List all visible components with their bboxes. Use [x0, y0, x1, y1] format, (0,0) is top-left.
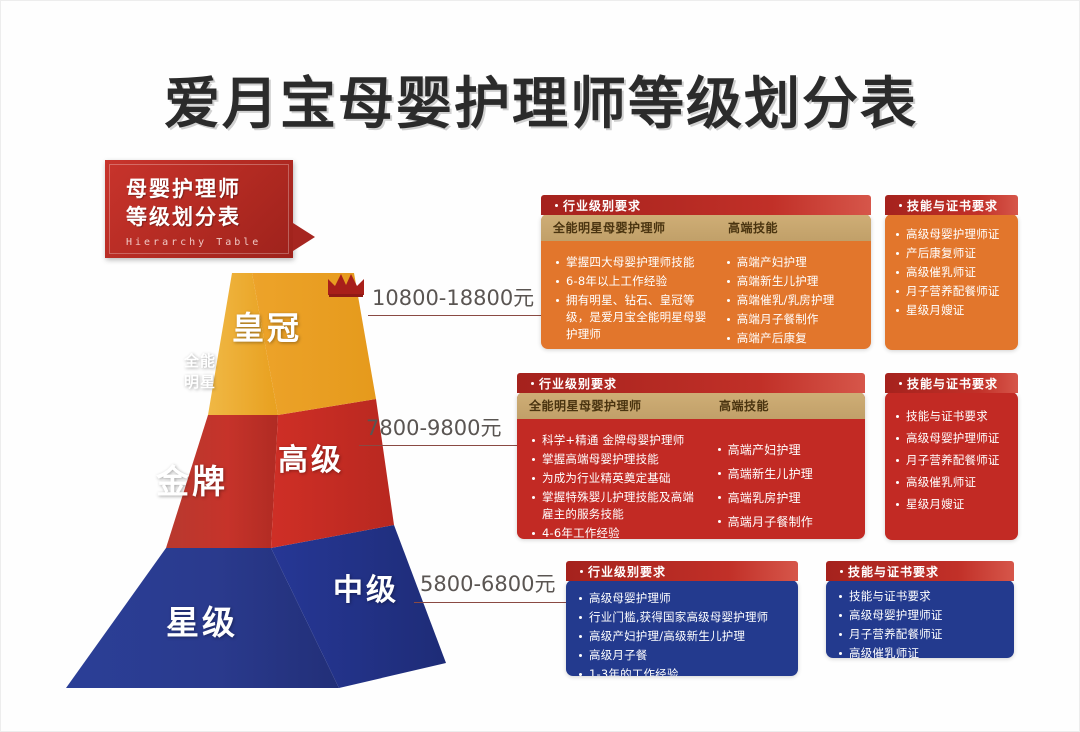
list-item: 掌握特殊婴儿护理技能及高端雇主的服务技能 [529, 489, 699, 523]
list-item: 高端产妇护理 [724, 254, 859, 271]
gold-col2-list: 高端产妇护理 高端新生儿护理 高端乳房护理 高端月子餐制作 [715, 441, 853, 531]
gold-certificates-caption: 技能与证书要求 [885, 373, 1018, 393]
bullet-dot-icon [580, 570, 583, 573]
list-item: 高端月子餐制作 [724, 311, 859, 328]
gold-certificates-body: 技能与证书要求 高级母婴护理师证 月子营养配餐师证 高级催乳师证 星级月嫂证 [885, 392, 1018, 540]
crown-requirements-caption: 行业级别要求 [541, 195, 871, 215]
gold-requirements-card: 行业级别要求 全能明星母婴护理师 高端技能 科学+精通 金牌母婴护理师 掌握高端… [517, 373, 865, 539]
list-item: 技能与证书要求 [836, 588, 1006, 605]
list-item: 高端月子餐制作 [715, 513, 853, 531]
list-item: 拥有明星、钻石、皇冠等级，是爱月宝全能明星母婴护理师 [553, 292, 708, 343]
connector-line-star [414, 602, 566, 603]
gold-certificates-list: 技能与证书要求 高级母婴护理师证 月子营养配餐师证 高级催乳师证 星级月嫂证 [893, 408, 1010, 513]
list-item: 高级月子餐 [576, 647, 790, 664]
price-crown-tier: 10800-18800元 [372, 282, 534, 312]
star-certificates-list: 技能与证书要求 高级母婴护理师证 月子营养配餐师证 高级催乳师证 [836, 588, 1006, 658]
crown-col2-header: 高端技能 [716, 214, 871, 241]
list-item: 1-3年的工作经验 [576, 666, 790, 676]
crown-certificates-caption-text: 技能与证书要求 [907, 197, 998, 214]
gold-certificates-card: 技能与证书要求 技能与证书要求 高级母婴护理师证 月子营养配餐师证 高级催乳师证… [885, 373, 1018, 540]
list-item: 高级母婴护理师证 [893, 226, 1010, 243]
bullet-dot-icon [899, 382, 902, 385]
star-requirements-caption-text: 行业级别要求 [588, 563, 666, 580]
list-item: 高级母婴护理师证 [836, 607, 1006, 624]
gold-columns: 科学+精通 金牌母婴护理师 掌握高端母婴护理技能 为成为行业精英奠定基础 掌握特… [517, 419, 865, 539]
list-item: 行业门槛,获得国家高级母婴护理师 [576, 609, 790, 626]
crown-col1-list: 掌握四大母婴护理师技能 6-8年以上工作经验 拥有明星、钻石、皇冠等级，是爱月宝… [553, 254, 708, 343]
list-item: 技能与证书要求 [893, 408, 1010, 425]
price-star-tier: 5800-6800元 [420, 568, 555, 598]
crown-col1-header: 全能明星母婴护理师 [541, 214, 716, 241]
list-item: 6-8年以上工作经验 [553, 273, 708, 290]
star-certificates-caption-text: 技能与证书要求 [848, 563, 939, 580]
star-requirements-list: 高级母婴护理师 行业门槛,获得国家高级母婴护理师 高级产妇护理/高级新生儿护理 … [576, 590, 790, 676]
star-certificates-body: 技能与证书要求 高级母婴护理师证 月子营养配餐师证 高级催乳师证 [826, 580, 1014, 658]
gold-col2-header: 高端技能 [707, 392, 865, 419]
gold-requirements-body: 全能明星母婴护理师 高端技能 科学+精通 金牌母婴护理师 掌握高端母婴护理技能 … [517, 392, 865, 539]
star-certificates-card: 技能与证书要求 技能与证书要求 高级母婴护理师证 月子营养配餐师证 高级催乳师证 [826, 561, 1014, 658]
crown-subheader-row: 全能明星母婴护理师 高端技能 [541, 214, 871, 241]
star-requirements-card: 行业级别要求 高级母婴护理师 行业门槛,获得国家高级母婴护理师 高级产妇护理/高… [566, 561, 798, 676]
infographic-canvas: 爱月宝母婴护理师等级划分表 母婴护理师 等级划分表 Hierarchy Tabl… [0, 0, 1080, 732]
connector-line-crown [368, 315, 548, 316]
connector-line-gold [359, 445, 519, 446]
gold-col1-header: 全能明星母婴护理师 [517, 392, 707, 419]
price-gold-tier: 7800-9800元 [366, 412, 501, 442]
list-item: 高级母婴护理师证 [893, 430, 1010, 447]
list-item: 4-6年工作经验 [529, 525, 699, 539]
list-item: 产后康复师证 [893, 245, 1010, 262]
list-item: 高级催乳师证 [836, 645, 1006, 658]
star-requirements-body: 高级母婴护理师 行业门槛,获得国家高级母婴护理师 高级产妇护理/高级新生儿护理 … [566, 580, 798, 676]
list-item: 月子营养配餐师证 [893, 452, 1010, 469]
crown-icon [326, 271, 366, 297]
crown-certificates-caption: 技能与证书要求 [885, 195, 1018, 215]
ribbon-inner-border: 母婴护理师 等级划分表 Hierarchy Table [109, 164, 289, 254]
level-pyramid: 皇冠 全能 明星 金牌 高级 星级 中级 [56, 263, 526, 693]
crown-column-1: 掌握四大母婴护理师技能 6-8年以上工作经验 拥有明星、钻石、皇冠等级，是爱月宝… [545, 247, 716, 341]
pyramid-shapes [56, 263, 526, 693]
crown-requirements-card: 行业级别要求 全能明星母婴护理师 高端技能 掌握四大母婴护理师技能 6-8年以上… [541, 195, 871, 349]
crown-column-2: 高端产妇护理 高端新生儿护理 高端催乳/乳房护理 高端月子餐制作 高端产后康复 [716, 247, 867, 341]
crown-certificates-body: 高级母婴护理师证 产后康复师证 高级催乳师证 月子营养配餐师证 星级月嫂证 [885, 214, 1018, 350]
gold-col1-list: 科学+精通 金牌母婴护理师 掌握高端母婴护理技能 为成为行业精英奠定基础 掌握特… [529, 432, 699, 539]
ribbon-english-subtitle: Hierarchy Table [126, 237, 288, 248]
page-title: 爱月宝母婴护理师等级划分表 [1, 59, 1080, 140]
list-item: 星级月嫂证 [893, 496, 1010, 513]
crown-requirements-caption-text: 行业级别要求 [563, 197, 641, 214]
list-item: 高端新生儿护理 [715, 465, 853, 483]
list-item: 掌握四大母婴护理师技能 [553, 254, 708, 271]
list-item: 高级催乳师证 [893, 264, 1010, 281]
gold-certificates-caption-text: 技能与证书要求 [907, 375, 998, 392]
bullet-dot-icon [840, 570, 843, 573]
list-item: 高端新生儿护理 [724, 273, 859, 290]
list-item: 高端乳房护理 [715, 489, 853, 507]
crown-certificates-list: 高级母婴护理师证 产后康复师证 高级催乳师证 月子营养配餐师证 星级月嫂证 [893, 226, 1010, 319]
bullet-dot-icon [531, 382, 534, 385]
list-item: 月子营养配餐师证 [836, 626, 1006, 643]
crown-col2-list: 高端产妇护理 高端新生儿护理 高端催乳/乳房护理 高端月子餐制作 高端产后康复 [724, 254, 859, 347]
list-item: 高端产妇护理 [715, 441, 853, 459]
list-item: 高端产后康复 [724, 330, 859, 347]
list-item: 月子营养配餐师证 [893, 283, 1010, 300]
bullet-dot-icon [555, 204, 558, 207]
ribbon-line-1: 母婴护理师 [126, 175, 288, 203]
gold-column-2: 高端产妇护理 高端新生儿护理 高端乳房护理 高端月子餐制作 [707, 425, 861, 531]
star-certificates-caption: 技能与证书要求 [826, 561, 1014, 581]
list-item: 为成为行业精英奠定基础 [529, 470, 699, 487]
list-item: 高级催乳师证 [893, 474, 1010, 491]
hierarchy-ribbon-banner: 母婴护理师 等级划分表 Hierarchy Table [105, 160, 293, 258]
crown-requirements-body: 全能明星母婴护理师 高端技能 掌握四大母婴护理师技能 6-8年以上工作经验 拥有… [541, 214, 871, 349]
list-item: 高级母婴护理师 [576, 590, 790, 607]
pyramid-face-gold-left [166, 415, 278, 548]
gold-column-1: 科学+精通 金牌母婴护理师 掌握高端母婴护理技能 为成为行业精英奠定基础 掌握特… [521, 425, 707, 531]
gold-requirements-caption: 行业级别要求 [517, 373, 865, 393]
crown-certificates-card: 技能与证书要求 高级母婴护理师证 产后康复师证 高级催乳师证 月子营养配餐师证 … [885, 195, 1018, 350]
bullet-dot-icon [899, 204, 902, 207]
list-item: 高端催乳/乳房护理 [724, 292, 859, 309]
crown-columns: 掌握四大母婴护理师技能 6-8年以上工作经验 拥有明星、钻石、皇冠等级，是爱月宝… [541, 241, 871, 349]
ribbon-line-2: 等级划分表 [126, 203, 288, 231]
list-item: 科学+精通 金牌母婴护理师 [529, 432, 699, 449]
star-requirements-caption: 行业级别要求 [566, 561, 798, 581]
list-item: 掌握高端母婴护理技能 [529, 451, 699, 468]
list-item: 星级月嫂证 [893, 302, 1010, 319]
gold-requirements-caption-text: 行业级别要求 [539, 375, 617, 392]
gold-subheader-row: 全能明星母婴护理师 高端技能 [517, 392, 865, 419]
list-item: 高级产妇护理/高级新生儿护理 [576, 628, 790, 645]
ribbon-tail-arrow [293, 223, 315, 251]
